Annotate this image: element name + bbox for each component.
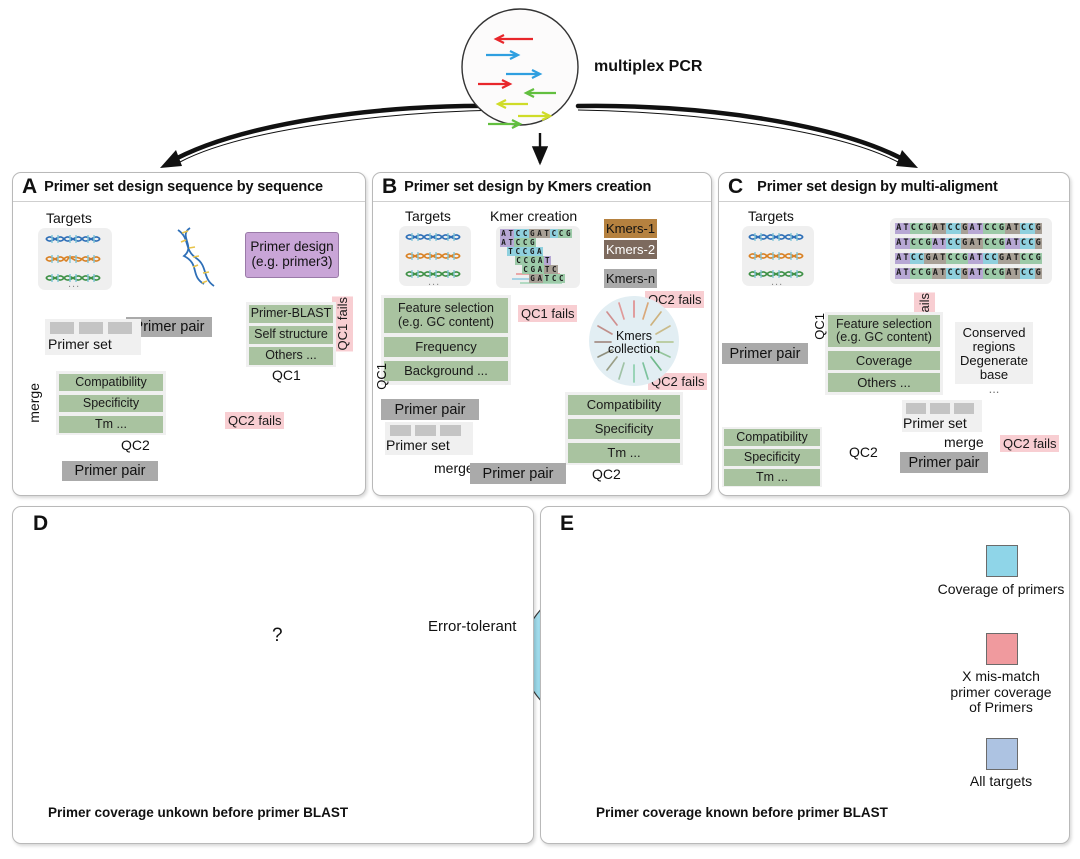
panel-a-primer-pair-bottom[interactable]: Primer pair: [62, 461, 158, 481]
panel-b-kmers-collection-label: Kmers collection: [600, 330, 668, 356]
panel-c-qc1-item0-line2: (e.g. GC content): [836, 331, 932, 344]
panel-b-qc1-item-0[interactable]: Feature selection (e.g. GC content): [384, 298, 508, 333]
panel-a-qc1-label: QC1: [272, 367, 301, 383]
panel-b-qc1-item-2[interactable]: Background ...: [384, 361, 508, 381]
panel-b-kmers-box-0[interactable]: Kmers-1: [604, 219, 657, 238]
panel-b-merge-label: merge: [434, 460, 474, 476]
panel-e-letter: E: [560, 512, 574, 536]
panel-c-qc2-fails-badge: QC2 fails: [1000, 435, 1059, 452]
primer-design-line2: (e.g. primer3): [250, 255, 333, 270]
panel-b-qc1-fails-badge: QC1 fails: [518, 305, 577, 322]
panel-a-targets-label: Targets: [46, 210, 92, 226]
kmers-collection-line2: collection: [600, 343, 668, 356]
conserved-line1: Conserved: [955, 326, 1033, 340]
panel-b-targets-label: Targets: [405, 208, 451, 224]
panel-c-header: C Primer set design by multi-aligment: [719, 173, 1069, 202]
legend-label-2: All targets: [930, 774, 1072, 790]
panel-b-set-chip-0: [390, 425, 411, 436]
panel-c-title: Primer set design by multi-aligment: [757, 179, 998, 195]
legend-swatch-0: [986, 545, 1018, 577]
panel-b-kmer-seq-1: ATCCG: [500, 238, 536, 247]
panel-c-qc1-item-2[interactable]: Others ...: [828, 373, 940, 392]
figure-root: multiplex PCR A Primer set design sequen…: [0, 0, 1080, 859]
panel-c-qc2-label: QC2: [849, 444, 878, 460]
panel-b-qc2-item-0[interactable]: Compatibility: [568, 395, 680, 415]
panel-b-qc1-item-1[interactable]: Frequency: [384, 337, 508, 357]
panel-a-targets-ellipsis: ...: [68, 278, 80, 290]
panel-c-qc1-item-0[interactable]: Feature selection (e.g. GC content): [828, 315, 940, 347]
panel-a-letter: A: [22, 175, 37, 199]
panel-d-caption: Primer coverage unkown before primer BLA…: [48, 805, 348, 820]
panel-b-kmers-box-1[interactable]: Kmers-2: [604, 240, 657, 259]
legend-swatch-1: [986, 633, 1018, 665]
panel-b-kmer-creation-label: Kmer creation: [490, 208, 577, 224]
panel-b-set-chip-2: [440, 425, 461, 436]
panel-a-qc1-item-0[interactable]: Primer-BLAST: [249, 305, 333, 323]
panel-c-qc1-item-1[interactable]: Coverage: [828, 351, 940, 370]
panel-c-letter: C: [728, 175, 743, 199]
panel-c-conserved-text: Conserved regions Degenerate base ...: [955, 326, 1033, 396]
panel-a-merge-label: merge: [26, 383, 42, 423]
panel-b-targets-ellipsis: ...: [428, 276, 440, 288]
legend-label-1-line2: primer coverage: [930, 685, 1072, 701]
panel-c-aln-row-0: ATCCGATCCGATCCGATCCG: [895, 223, 1042, 234]
legend-label-1: X mis-match primer coverage of Primers: [930, 669, 1072, 716]
panel-c-set-chip-2: [954, 403, 974, 414]
panel-a-qc2-item-1[interactable]: Specificity: [59, 395, 163, 412]
panel-a-set-chip-1: [79, 322, 103, 334]
panel-c-qc2-item-1[interactable]: Specificity: [724, 449, 820, 466]
panel-a-set-chip-2: [108, 322, 132, 334]
panel-c-qc2-item-2[interactable]: Tm ...: [724, 469, 820, 486]
panel-b-kmers-box-2[interactable]: Kmers-n: [604, 269, 657, 288]
panel-b-header: B Primer set design by Kmers creation: [373, 173, 711, 202]
panel-c-qc2-item-0[interactable]: Compatibility: [724, 429, 820, 446]
conserved-line4: base: [955, 368, 1033, 382]
panel-c-targets-label: Targets: [748, 208, 794, 224]
panel-b-primer-set-label: Primer set: [386, 437, 450, 453]
legend-swatch-2: [986, 738, 1018, 770]
panel-c-aln-row-3: ATCCGATCCGATCCGATCCG: [895, 268, 1042, 279]
panel-a-qc1-item-2[interactable]: Others ...: [249, 347, 333, 365]
panel-c-primer-pair-bottom[interactable]: Primer pair: [900, 452, 988, 473]
panel-b-qc2-item-1[interactable]: Specificity: [568, 419, 680, 439]
panel-a-qc2-item-0[interactable]: Compatibility: [59, 374, 163, 391]
legend-label-1-line1: X mis-match: [930, 669, 1072, 685]
panel-a-header: A Primer set design sequence by sequence: [13, 173, 365, 202]
panel-a-qc2-fails-badge: QC2 fails: [225, 412, 284, 429]
panel-c-qc1-label: QC1: [812, 313, 827, 340]
panel-b-primer-pair-bottom[interactable]: Primer pair: [470, 463, 566, 484]
panel-b-kmer-seq-5: GATCC: [529, 274, 565, 283]
panel-a-primer-design-box[interactable]: Primer design (e.g. primer3): [245, 232, 339, 278]
panel-a-single-helix: [168, 226, 220, 290]
panel-a-qc2-label: QC2: [121, 437, 150, 453]
multiplex-pcr-circle: [460, 5, 580, 130]
panel-a-primer-set-label: Primer set: [48, 336, 112, 352]
panel-e-caption: Primer coverage known before primer BLAS…: [596, 805, 888, 820]
panel-b-primer-pair-left[interactable]: Primer pair: [381, 399, 479, 420]
panel-b-kmer-seq-3: CCGAT: [515, 256, 551, 265]
panel-c-primer-set-label: Primer set: [903, 415, 967, 431]
panel-d-letter: D: [33, 512, 48, 536]
panel-a-qc1-item-1[interactable]: Self structure: [249, 326, 333, 344]
panel-d: [12, 506, 534, 844]
panel-b-qc2-label: QC2: [592, 466, 621, 482]
conserved-line2: regions: [955, 340, 1033, 354]
conserved-line5: ...: [955, 382, 1033, 396]
primer-design-line1: Primer design: [250, 240, 333, 255]
multiplex-pcr-label: multiplex PCR: [594, 58, 702, 76]
panel-b-title: Primer set design by Kmers creation: [404, 179, 651, 195]
panel-b-kmer-seq-0: ATCCGATCCG: [500, 229, 572, 238]
legend-label-0: Coverage of primers: [930, 582, 1072, 598]
panel-b-qc1-item0-line1: Feature selection: [398, 302, 494, 315]
panel-a-qc2-item-2[interactable]: Tm ...: [59, 416, 163, 433]
panel-d-question-mark: ?: [272, 625, 283, 647]
panel-c-set-chip-0: [906, 403, 926, 414]
conserved-line3: Degenerate: [955, 354, 1033, 368]
panel-b-qc2-item-2[interactable]: Tm ...: [568, 443, 680, 463]
panel-b-qc1-item0-line2: (e.g. GC content): [398, 316, 494, 329]
panel-a-set-chip-0: [50, 322, 74, 334]
panel-c-primer-pair-left[interactable]: Primer pair: [722, 343, 808, 364]
panel-b-kmer-seq-2: TCCGA: [507, 247, 543, 256]
panel-c-merge-label: merge: [944, 434, 984, 450]
panel-a-title: Primer set design sequence by sequence: [44, 179, 323, 195]
panel-c-targets-ellipsis: ...: [771, 276, 783, 288]
error-tolerant-label: Error-tolerant: [428, 618, 516, 635]
panel-c-aln-row-2: ATCCGATCCGATCCGATCCG: [895, 253, 1042, 264]
panel-c-set-chip-1: [930, 403, 950, 414]
panel-b-set-chip-1: [415, 425, 436, 436]
panel-b-letter: B: [382, 175, 397, 199]
legend-label-1-line3: of Primers: [930, 700, 1072, 716]
panel-b-qc1-label: QC1: [374, 363, 389, 390]
panel-b-kmer-seq-4: CGATC: [522, 265, 558, 274]
panel-c-aln-row-1: ATCCGATCCGATCCGATCCG: [895, 238, 1042, 249]
